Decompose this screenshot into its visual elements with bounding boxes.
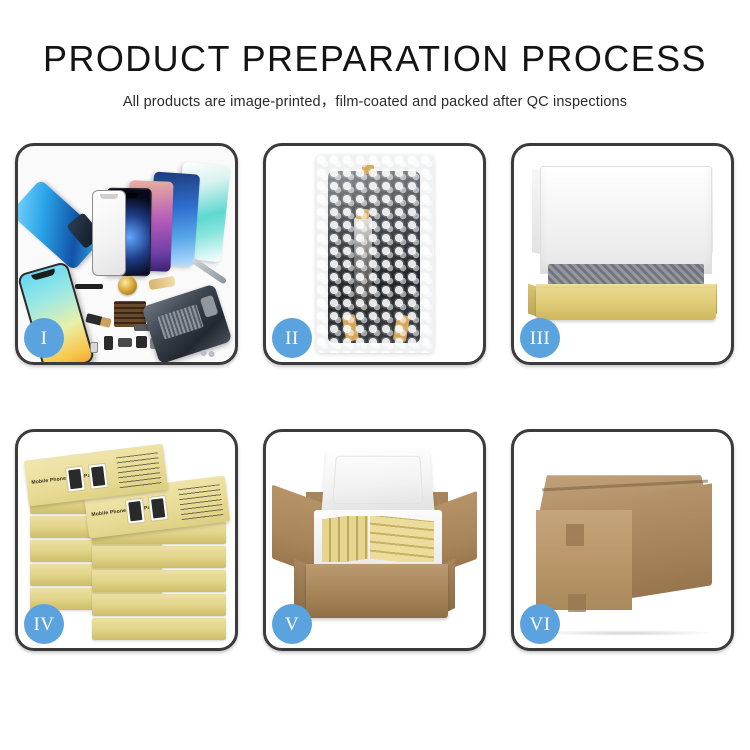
stacked-box	[92, 618, 226, 640]
coil-part-graphic	[118, 276, 137, 295]
box-spec-lines-graphic	[178, 484, 224, 521]
carton-front-wall-graphic	[306, 564, 448, 618]
small-part-1-graphic	[104, 336, 113, 350]
carton-tape-lower-graphic	[568, 594, 586, 612]
process-step-grid: I II	[15, 143, 735, 673]
box-window-1-graphic	[65, 466, 86, 493]
page-root: PRODUCT PREPARATION PROCESS All products…	[0, 0, 750, 750]
carton-tape-upper-graphic	[566, 524, 584, 546]
step-badge-3: III	[520, 318, 560, 358]
bubble-texture-overlay-graphic	[316, 155, 434, 353]
box-window-1-graphic	[125, 498, 146, 525]
small-part-2-graphic	[118, 338, 132, 347]
stacked-box	[92, 570, 226, 592]
step-badge-4: IV	[24, 604, 64, 644]
box-window-2-graphic	[88, 463, 109, 490]
white-box-lid-graphic	[540, 166, 712, 274]
bubble-wrap-bag-graphic	[316, 155, 434, 353]
process-step-3[interactable]: III	[511, 143, 734, 365]
step-badge-6: VI	[520, 604, 560, 644]
flex-cable-b-graphic	[85, 313, 111, 328]
box-spec-lines-graphic	[116, 452, 162, 489]
inner-boxes-horizontal-graphic	[370, 516, 434, 562]
yellow-box-tray-graphic	[536, 288, 716, 320]
inner-boxes-vertical-graphic	[322, 516, 368, 562]
carton-right-face-graphic	[632, 483, 712, 598]
stacked-box	[92, 546, 226, 568]
process-step-1[interactable]: I	[15, 143, 238, 365]
carton-shadow-graphic	[538, 630, 714, 636]
step-badge-5: V	[272, 604, 312, 644]
process-step-4[interactable]: Mobile Phone Spare Parts Mobile Phone Sp…	[15, 429, 238, 651]
page-subtitle: All products are image-printed，film-coat…	[0, 90, 750, 111]
step-badge-1: I	[24, 318, 64, 358]
earpiece-part-graphic	[75, 284, 103, 289]
screws-graphic	[199, 348, 217, 358]
tempered-glass-graphic	[92, 190, 126, 276]
process-step-2[interactable]: II	[263, 143, 486, 365]
step-badge-2: II	[272, 318, 312, 358]
page-header: PRODUCT PREPARATION PROCESS All products…	[0, 0, 750, 111]
foam-box-lid-graphic	[321, 449, 435, 517]
small-part-3-graphic	[136, 336, 147, 348]
flex-cable-a-graphic	[148, 276, 175, 290]
process-step-5[interactable]: V	[263, 429, 486, 651]
stacked-box	[92, 594, 226, 616]
box-window-2-graphic	[148, 495, 169, 522]
phone-back-housing-graphic	[142, 284, 233, 362]
page-title: PRODUCT PREPARATION PROCESS	[0, 40, 750, 78]
tweezers-graphic	[191, 257, 228, 284]
process-step-6[interactable]: VI	[511, 429, 734, 651]
inner-boxes-graphic	[322, 516, 434, 562]
small-part-4-graphic	[90, 342, 98, 353]
